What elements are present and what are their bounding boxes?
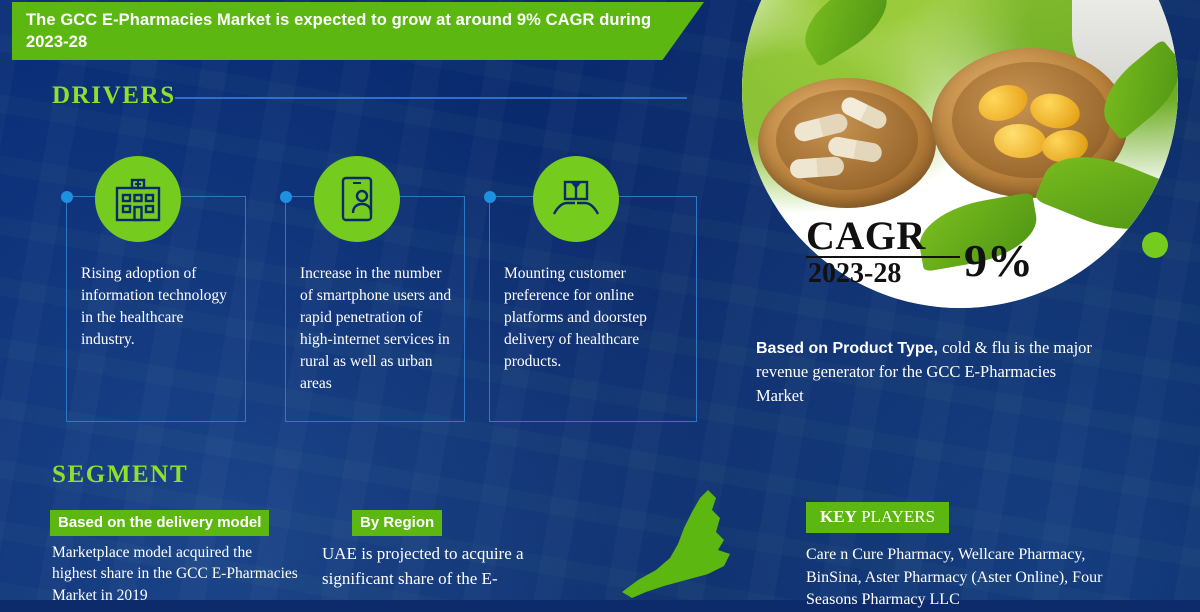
capsule-icon [789,156,844,179]
uae-map-icon [612,488,762,600]
accent-dot [1142,232,1168,258]
segment-heading: SEGMENT [52,461,188,489]
cagr-value: 9% [964,234,1033,287]
segment-region-label: By Region [352,510,442,536]
corner-dot [61,191,73,203]
drivers-divider [175,97,687,99]
segment-delivery-model-text: Marketplace model acquired the highest s… [52,542,298,606]
driver-card-text: Mounting customer preference for online … [504,263,686,373]
key-players-label-strong: KEY [820,507,857,526]
cagr-badge: CAGR 2023-28 9% [806,212,1036,298]
key-players-label: KEY PLAYERS [806,502,949,533]
package-in-hands-icon [533,156,619,242]
page-title: The GCC E-Pharmacies Market is expected … [26,9,690,54]
segment-delivery-model-label: Based on the delivery model [50,510,269,536]
product-type-note: Based on Product Type, cold & flu is the… [756,336,1106,408]
smartphone-user-icon [314,156,400,242]
infographic-root: The GCC E-Pharmacies Market is expected … [0,0,1200,600]
hospital-icon [95,156,181,242]
corner-dot [280,191,292,203]
key-players-text: Care n Cure Pharmacy, Wellcare Pharmacy,… [806,544,1106,612]
key-players-label-rest: PLAYERS [857,507,935,526]
cagr-label: CAGR [806,212,926,259]
driver-card-text: Increase in the number of smartphone use… [300,263,454,395]
corner-dot [484,191,496,203]
segment-region-text: UAE is projected to acquire a significan… [322,542,570,591]
title-banner: The GCC E-Pharmacies Market is expected … [12,2,704,60]
drivers-heading: DRIVERS [52,82,176,110]
cagr-period: 2023-28 [808,258,901,290]
driver-card-text: Rising adoption of information technolog… [81,263,235,351]
product-type-lead: Based on Product Type, [756,340,938,357]
